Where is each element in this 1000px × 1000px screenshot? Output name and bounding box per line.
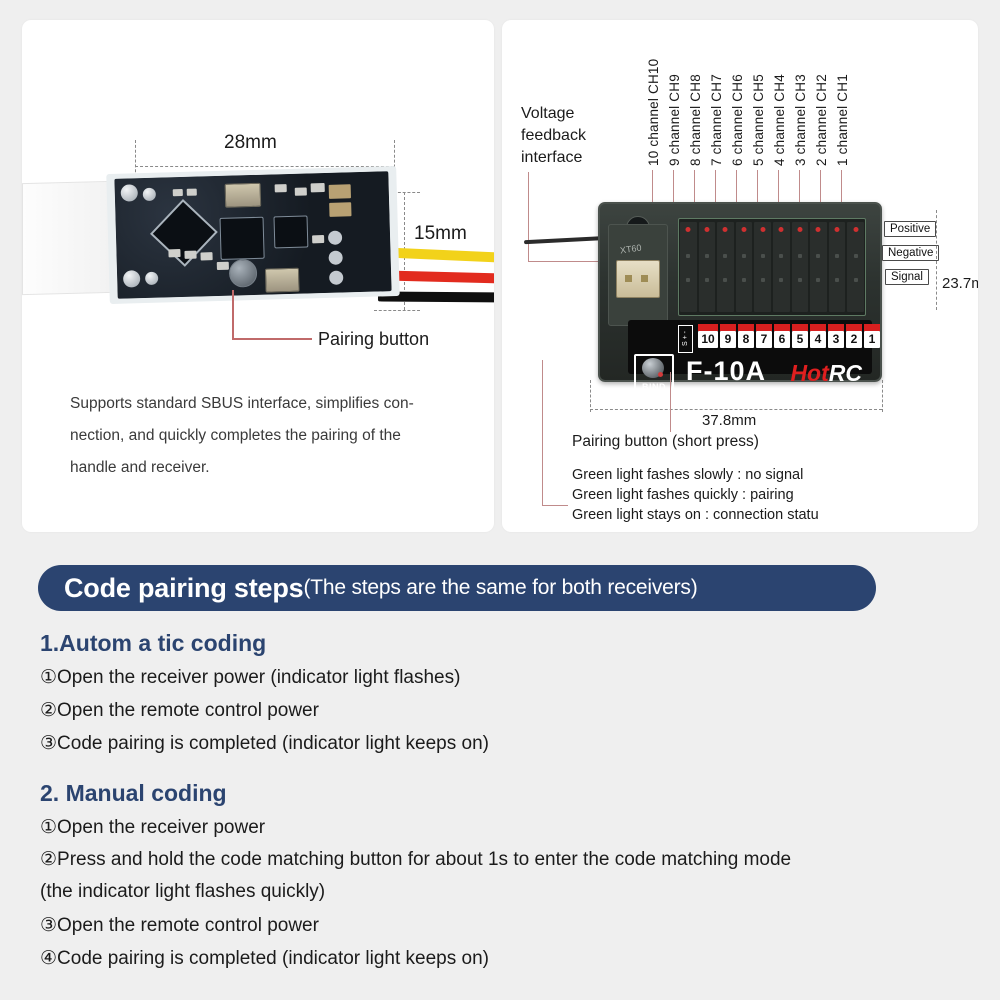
sbus-legend: S + - bbox=[678, 325, 693, 353]
pin-dot bbox=[686, 278, 690, 282]
red-bar bbox=[792, 324, 808, 331]
section-2-step-2: ②Press and hold the code matching button… bbox=[40, 848, 791, 871]
voltage-feedback-label-line2: feedback bbox=[521, 127, 586, 145]
dim-label-width: 28mm bbox=[224, 132, 277, 154]
pin-column bbox=[847, 222, 864, 312]
red-bar bbox=[698, 324, 718, 331]
red-bar bbox=[774, 324, 790, 331]
red-bar bbox=[864, 324, 880, 331]
section-2-step-2-cont: (the indicator light flashes quickly) bbox=[40, 881, 325, 903]
pin-dot bbox=[798, 254, 802, 258]
pairing-button-callout: Pairing button bbox=[318, 329, 429, 350]
smd-pad bbox=[184, 251, 196, 259]
pin-signal-dot bbox=[816, 227, 821, 232]
pcb-core bbox=[114, 171, 391, 299]
channel-label-1: 1 channel CH1 bbox=[835, 52, 850, 166]
smd-pad bbox=[200, 252, 212, 260]
pin-column bbox=[829, 222, 846, 312]
solder-joint bbox=[145, 272, 158, 285]
channel-label-9: 9 channel CH9 bbox=[667, 52, 682, 166]
pin-signal-dot bbox=[835, 227, 840, 232]
channel-number-cell: 7 bbox=[756, 324, 772, 348]
led-note-slow: Green light fashes slowly : no signal bbox=[572, 467, 803, 483]
channel-label-2: 2 channel CH2 bbox=[814, 52, 829, 166]
pin-dot bbox=[705, 254, 709, 258]
dim-line-rx-width bbox=[590, 409, 882, 410]
gold-pad bbox=[329, 202, 351, 217]
pin-signal-dot bbox=[723, 227, 728, 232]
crystal-can bbox=[225, 183, 262, 208]
pin-dot bbox=[761, 278, 765, 282]
bind-label: BIND bbox=[636, 382, 672, 392]
channel-number-cell: 8 bbox=[738, 324, 754, 348]
section-2-step-3: ③Open the remote control power bbox=[40, 914, 319, 937]
code-pairing-banner: Code pairing steps (The steps are the sa… bbox=[38, 565, 876, 611]
mcu-chip bbox=[220, 217, 265, 260]
pin-dot bbox=[816, 254, 820, 258]
pin-signal-dot bbox=[853, 227, 858, 232]
section-1-step-2: ②Open the remote control power bbox=[40, 699, 319, 722]
red-bar bbox=[720, 324, 736, 331]
channel-number-cell: 10 bbox=[698, 324, 718, 348]
pin-column bbox=[717, 222, 734, 312]
pin-signal-dot bbox=[797, 227, 802, 232]
panel-left-pcb: 28mm 15mm bbox=[22, 20, 494, 532]
description-line: handle and receiver. bbox=[70, 452, 470, 484]
pin-signal-dot bbox=[686, 227, 691, 232]
solder-joint bbox=[121, 184, 138, 201]
brand-logo: HotRC bbox=[790, 360, 862, 387]
smd-pad bbox=[312, 235, 324, 243]
smd-pad bbox=[311, 183, 325, 192]
led-leader-vertical bbox=[542, 360, 543, 506]
red-bar bbox=[810, 324, 826, 331]
pin-dot bbox=[854, 278, 858, 282]
voltage-feedback-connector[interactable] bbox=[616, 260, 660, 298]
jst-pin bbox=[625, 275, 632, 282]
red-bar bbox=[738, 324, 754, 331]
channel-number: 4 bbox=[810, 331, 826, 348]
smd-pad bbox=[275, 184, 287, 192]
led-note-on: Green light stays on : connection statu bbox=[572, 507, 819, 523]
pin-column bbox=[773, 222, 790, 312]
rx-pairing-leader bbox=[670, 372, 671, 432]
product-info-page: 28mm 15mm bbox=[0, 0, 1000, 1000]
pairing-leader-horizontal bbox=[232, 338, 312, 340]
section-1-title: 1.Autom a tic coding bbox=[40, 630, 266, 657]
pin-dot bbox=[835, 254, 839, 258]
channel-number: 2 bbox=[846, 331, 862, 348]
voltage-feedback-label-line1: Voltage bbox=[521, 105, 574, 123]
dim-label-rx-height: 23.7mm bbox=[942, 275, 978, 292]
pin-dot bbox=[835, 278, 839, 282]
channel-label-5: 5 channel CH5 bbox=[751, 52, 766, 166]
pin-column bbox=[810, 222, 827, 312]
section-2-step-4: ④Code pairing is completed (indicator li… bbox=[40, 947, 489, 970]
channel-number: 8 bbox=[738, 331, 754, 348]
dim-line-rx-height bbox=[936, 210, 937, 310]
voltage-feedback-label-line3: interface bbox=[521, 149, 582, 167]
gold-pad bbox=[329, 184, 351, 199]
pcb-board bbox=[106, 166, 400, 304]
via-pad bbox=[328, 251, 342, 265]
red-bar bbox=[828, 324, 844, 331]
dim-line-height-bottom bbox=[374, 310, 420, 311]
pin-tag-positive: Positive bbox=[884, 221, 936, 237]
pcb-illustration: 28mm 15mm bbox=[22, 20, 494, 360]
status-led bbox=[658, 372, 663, 377]
smd-pad bbox=[187, 189, 197, 196]
pairing-button-on-pcb[interactable] bbox=[229, 259, 258, 288]
section-2-title: 2. Manual coding bbox=[40, 780, 227, 807]
pairing-leader-vertical bbox=[232, 290, 234, 338]
channel-number-cell: 1 bbox=[864, 324, 880, 348]
pin-column bbox=[736, 222, 753, 312]
crystal-can-2 bbox=[265, 268, 300, 293]
channel-number: 1 bbox=[864, 331, 880, 348]
channel-label-7: 7 channel CH7 bbox=[709, 52, 724, 166]
banner-subtitle: (The steps are the same for both receive… bbox=[303, 576, 697, 600]
section-1-step-1: ①Open the receiver power (indicator ligh… bbox=[40, 666, 460, 689]
channel-number-strip: 10 9 8 7 6 5 4 3 2 1 bbox=[698, 324, 880, 348]
bind-button[interactable]: BIND bbox=[634, 354, 674, 392]
channel-number: 6 bbox=[774, 331, 790, 348]
pin-signal-dot bbox=[704, 227, 709, 232]
dim-tick-rx-left bbox=[590, 380, 591, 412]
model-name: F-10A bbox=[686, 356, 766, 387]
channel-label-10: 10 channel CH10 bbox=[646, 42, 661, 166]
left-description: Supports standard SBUS interface, simpli… bbox=[70, 388, 470, 484]
red-bar bbox=[846, 324, 862, 331]
top-panels: 28mm 15mm bbox=[22, 20, 978, 532]
channel-label-3: 3 channel CH3 bbox=[793, 52, 808, 166]
channel-number: 9 bbox=[720, 331, 736, 348]
channel-pin-header bbox=[678, 218, 866, 316]
pin-dot bbox=[686, 254, 690, 258]
channel-number-cell: 2 bbox=[846, 324, 862, 348]
channel-label-6: 6 channel CH6 bbox=[730, 52, 745, 166]
pin-dot bbox=[705, 278, 709, 282]
dim-label-rx-width: 37.8mm bbox=[702, 412, 756, 429]
pin-column bbox=[699, 222, 716, 312]
channel-number-cell: 5 bbox=[792, 324, 808, 348]
brand-hot: Hot bbox=[790, 360, 828, 386]
pin-dot bbox=[723, 254, 727, 258]
section-2-step-1: ①Open the receiver power bbox=[40, 816, 265, 839]
pin-column bbox=[792, 222, 809, 312]
channel-number: 5 bbox=[792, 331, 808, 348]
pin-dot bbox=[761, 254, 765, 258]
via-pad bbox=[328, 231, 342, 245]
via-pad bbox=[329, 271, 343, 285]
solder-joint bbox=[123, 270, 140, 287]
antenna-block bbox=[22, 181, 112, 295]
solder-joint bbox=[143, 188, 156, 201]
description-line: nection, and quickly completes the pairi… bbox=[70, 420, 470, 452]
receiver-label-area: S + - 10 9 8 7 6 5 4 3 2 1 bbox=[628, 320, 872, 374]
pin-column bbox=[754, 222, 771, 312]
led-note-quick: Green light fashes quickly : pairing bbox=[572, 487, 794, 503]
pin-signal-dot bbox=[779, 227, 784, 232]
pin-dot bbox=[798, 278, 802, 282]
red-bar bbox=[756, 324, 772, 331]
pin-tag-negative: Negative bbox=[882, 245, 939, 261]
rx-pairing-note: Pairing button (short press) bbox=[572, 433, 759, 451]
channel-number: 3 bbox=[828, 331, 844, 348]
pin-dot bbox=[723, 278, 727, 282]
led-leader-horizontal bbox=[542, 505, 568, 506]
ic-chip bbox=[273, 215, 308, 248]
pin-dot bbox=[742, 278, 746, 282]
pin-tag-signal: Signal bbox=[885, 269, 929, 285]
pin-signal-dot bbox=[760, 227, 765, 232]
channel-number-cell: 4 bbox=[810, 324, 826, 348]
receiver-illustration: Voltage feedback interface 10 channel CH… bbox=[502, 20, 978, 532]
channel-number-cell: 3 bbox=[828, 324, 844, 348]
pin-dot bbox=[742, 254, 746, 258]
pin-dot bbox=[779, 278, 783, 282]
channel-number: 10 bbox=[698, 331, 718, 348]
pin-column bbox=[680, 222, 697, 312]
banner-title: Code pairing steps bbox=[38, 573, 303, 604]
section-1-step-3: ③Code pairing is completed (indicator li… bbox=[40, 732, 489, 755]
description-line: Supports standard SBUS interface, simpli… bbox=[70, 388, 470, 420]
pin-signal-dot bbox=[742, 227, 747, 232]
smd-pad bbox=[295, 187, 307, 195]
pin-dot bbox=[779, 254, 783, 258]
pin-dot bbox=[854, 254, 858, 258]
panel-right-receiver: Voltage feedback interface 10 channel CH… bbox=[502, 20, 978, 532]
channel-number-cell: 9 bbox=[720, 324, 736, 348]
channel-number: 7 bbox=[756, 331, 772, 348]
channel-label-4: 4 channel CH4 bbox=[772, 52, 787, 166]
receiver-device: XT60 bbox=[598, 202, 882, 382]
dim-label-height: 15mm bbox=[414, 223, 467, 245]
voltage-leader-vertical bbox=[528, 172, 529, 262]
channel-number-cell: 6 bbox=[774, 324, 790, 348]
brand-rc: RC bbox=[829, 360, 862, 386]
smd-pad bbox=[217, 262, 229, 270]
jst-pin bbox=[641, 275, 648, 282]
dim-tick-rx-right bbox=[882, 380, 883, 412]
smd-pad bbox=[173, 189, 183, 196]
smd-pad bbox=[168, 249, 180, 257]
channel-label-8: 8 channel CH8 bbox=[688, 52, 703, 166]
pin-dot bbox=[816, 278, 820, 282]
